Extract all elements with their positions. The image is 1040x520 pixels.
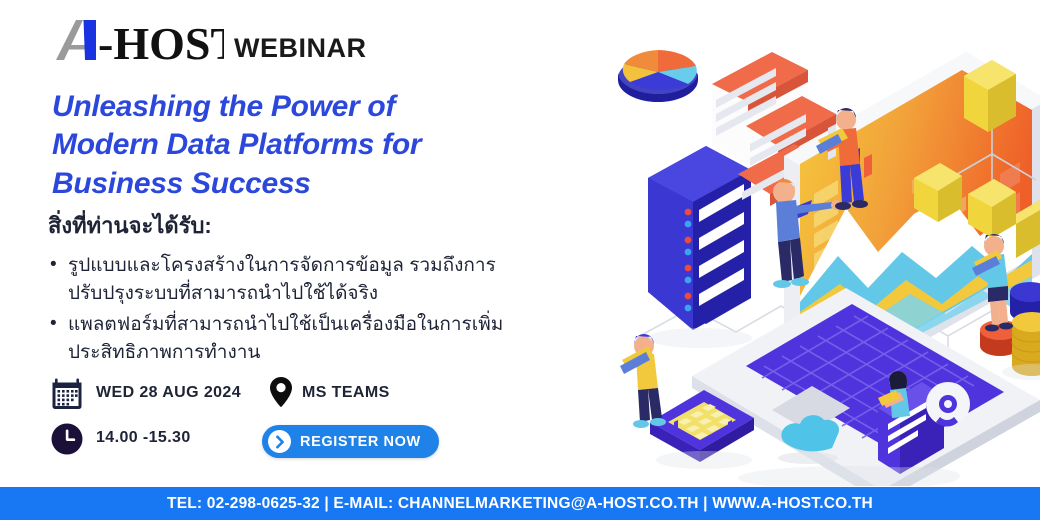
register-now-label: REGISTER NOW: [300, 434, 421, 450]
footer-bar: TEL: 02-298-0625-32 | E-MAIL: CHANNELMAR…: [0, 487, 1040, 520]
webinar-label: WEBINAR: [234, 35, 367, 66]
brand-logo: -HOST WEBINAR: [52, 14, 367, 66]
svg-text:-HOST: -HOST: [98, 18, 224, 66]
benefits-heading: สิ่งที่ท่านจะได้รับ:: [48, 208, 212, 243]
benefit-2-line-2: ประสิทธิภาพการทำงาน: [68, 339, 578, 367]
list-item: รูปแบบและโครงสร้างในการจัดการข้อมูล รวมถ…: [48, 252, 578, 307]
list-item: แพลตฟอร์มที่สามารถนำไปใช้เป็นเครื่องมือใ…: [48, 311, 578, 366]
footer-contact-text: TEL: 02-298-0625-32 | E-MAIL: CHANNELMAR…: [167, 495, 873, 513]
clock-icon: [50, 422, 84, 456]
register-now-button[interactable]: REGISTER NOW: [262, 425, 439, 458]
calendar-icon: [50, 377, 84, 411]
server-rack: [648, 146, 751, 330]
event-time: 14.00 -15.30: [96, 429, 191, 447]
benefit-2-line-1: แพลตฟอร์มที่สามารถนำไปใช้เป็นเครื่องมือใ…: [68, 311, 578, 339]
benefits-list: รูปแบบและโครงสร้างในการจัดการข้อมูล รวมถ…: [48, 252, 578, 370]
isometric-data-platform-illustration: [596, 8, 1040, 486]
pie-chart: [618, 50, 698, 102]
event-platform: MS TEAMS: [302, 384, 390, 402]
benefit-1-line-1: รูปแบบและโครงสร้างในการจัดการข้อมูล รวมถ…: [68, 252, 578, 280]
benefit-1-line-2: ปรับปรุงระบบที่สามารถนำไปใช้ได้จริง: [68, 280, 578, 308]
title-line-2: Modern Data Platforms for: [52, 126, 572, 164]
page-title: Unleashing the Power of Modern Data Plat…: [52, 88, 572, 203]
content-column: -HOST WEBINAR Unleashing the Power of Mo…: [0, 0, 610, 487]
map-pin-icon: [264, 375, 298, 409]
person-folders: [620, 334, 666, 428]
a-host-logo-mark: -HOST: [52, 14, 224, 66]
webinar-banner: -HOST WEBINAR Unleashing the Power of Mo…: [0, 0, 1040, 520]
title-line-1: Unleashing the Power of: [52, 88, 572, 126]
event-date: WED 28 AUG 2024: [96, 384, 241, 402]
chevron-right-icon: [268, 430, 291, 453]
title-line-3: Business Success: [52, 165, 572, 203]
